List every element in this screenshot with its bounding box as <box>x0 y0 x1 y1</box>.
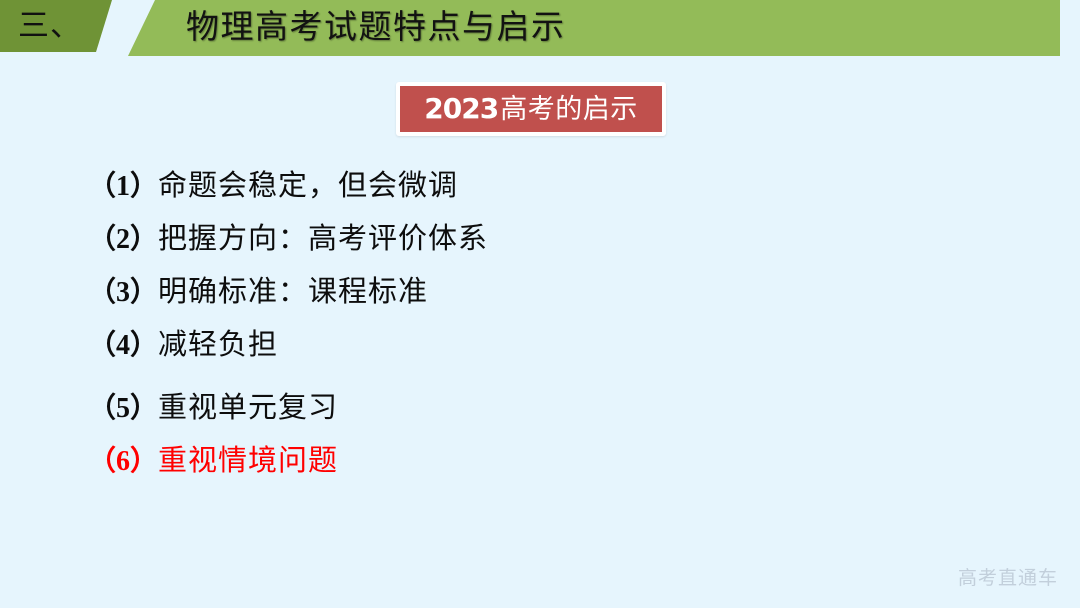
list-item: （4） 减轻负担 <box>88 319 848 372</box>
list-item-number: （1） <box>88 160 158 213</box>
list-item-number: （6） <box>88 435 158 488</box>
list-item-number: （4） <box>88 319 158 372</box>
list-item-label: 重视情境问题 <box>158 435 338 488</box>
list-item-label: 把握方向：高考评价体系 <box>158 213 488 266</box>
list-item-number: （2） <box>88 213 158 266</box>
list-item-label: 减轻负担 <box>158 319 278 372</box>
callout-inner: 2023高考的启示 <box>400 86 662 132</box>
watermark-label: 高考直通车 <box>958 569 1058 588</box>
list-item-number: （3） <box>88 266 158 319</box>
list-item: （6） 重视情境问题 <box>88 435 848 488</box>
list-item: （3） 明确标准：课程标准 <box>88 266 848 319</box>
bullet-list: （1） 命题会稳定，但会微调 （2） 把握方向：高考评价体系 （3） 明确标准：… <box>88 160 848 488</box>
callout-text: 2023高考的启示 <box>424 95 637 123</box>
list-item-label: 重视单元复习 <box>158 382 338 435</box>
list-item: （2） 把握方向：高考评价体系 <box>88 213 848 266</box>
callout-year: 2023 <box>424 92 498 125</box>
list-item-label: 明确标准：课程标准 <box>158 266 428 319</box>
slide-header: 三、 物理高考试题特点与启示 <box>0 0 1080 60</box>
page-title: 物理高考试题特点与启示 <box>186 3 566 53</box>
list-item: （1） 命题会稳定，但会微调 <box>88 160 848 213</box>
callout-label: 高考的启示 <box>500 94 638 124</box>
list-item: （5） 重视单元复习 <box>88 382 848 435</box>
section-number: 三、 <box>18 2 110 48</box>
slide-canvas: 三、 物理高考试题特点与启示 2023高考的启示 （1） 命题会稳定，但会微调 … <box>0 0 1080 608</box>
list-item-number: （5） <box>88 382 158 435</box>
list-item-label: 命题会稳定，但会微调 <box>158 160 458 213</box>
callout-banner: 2023高考的启示 <box>396 82 666 136</box>
